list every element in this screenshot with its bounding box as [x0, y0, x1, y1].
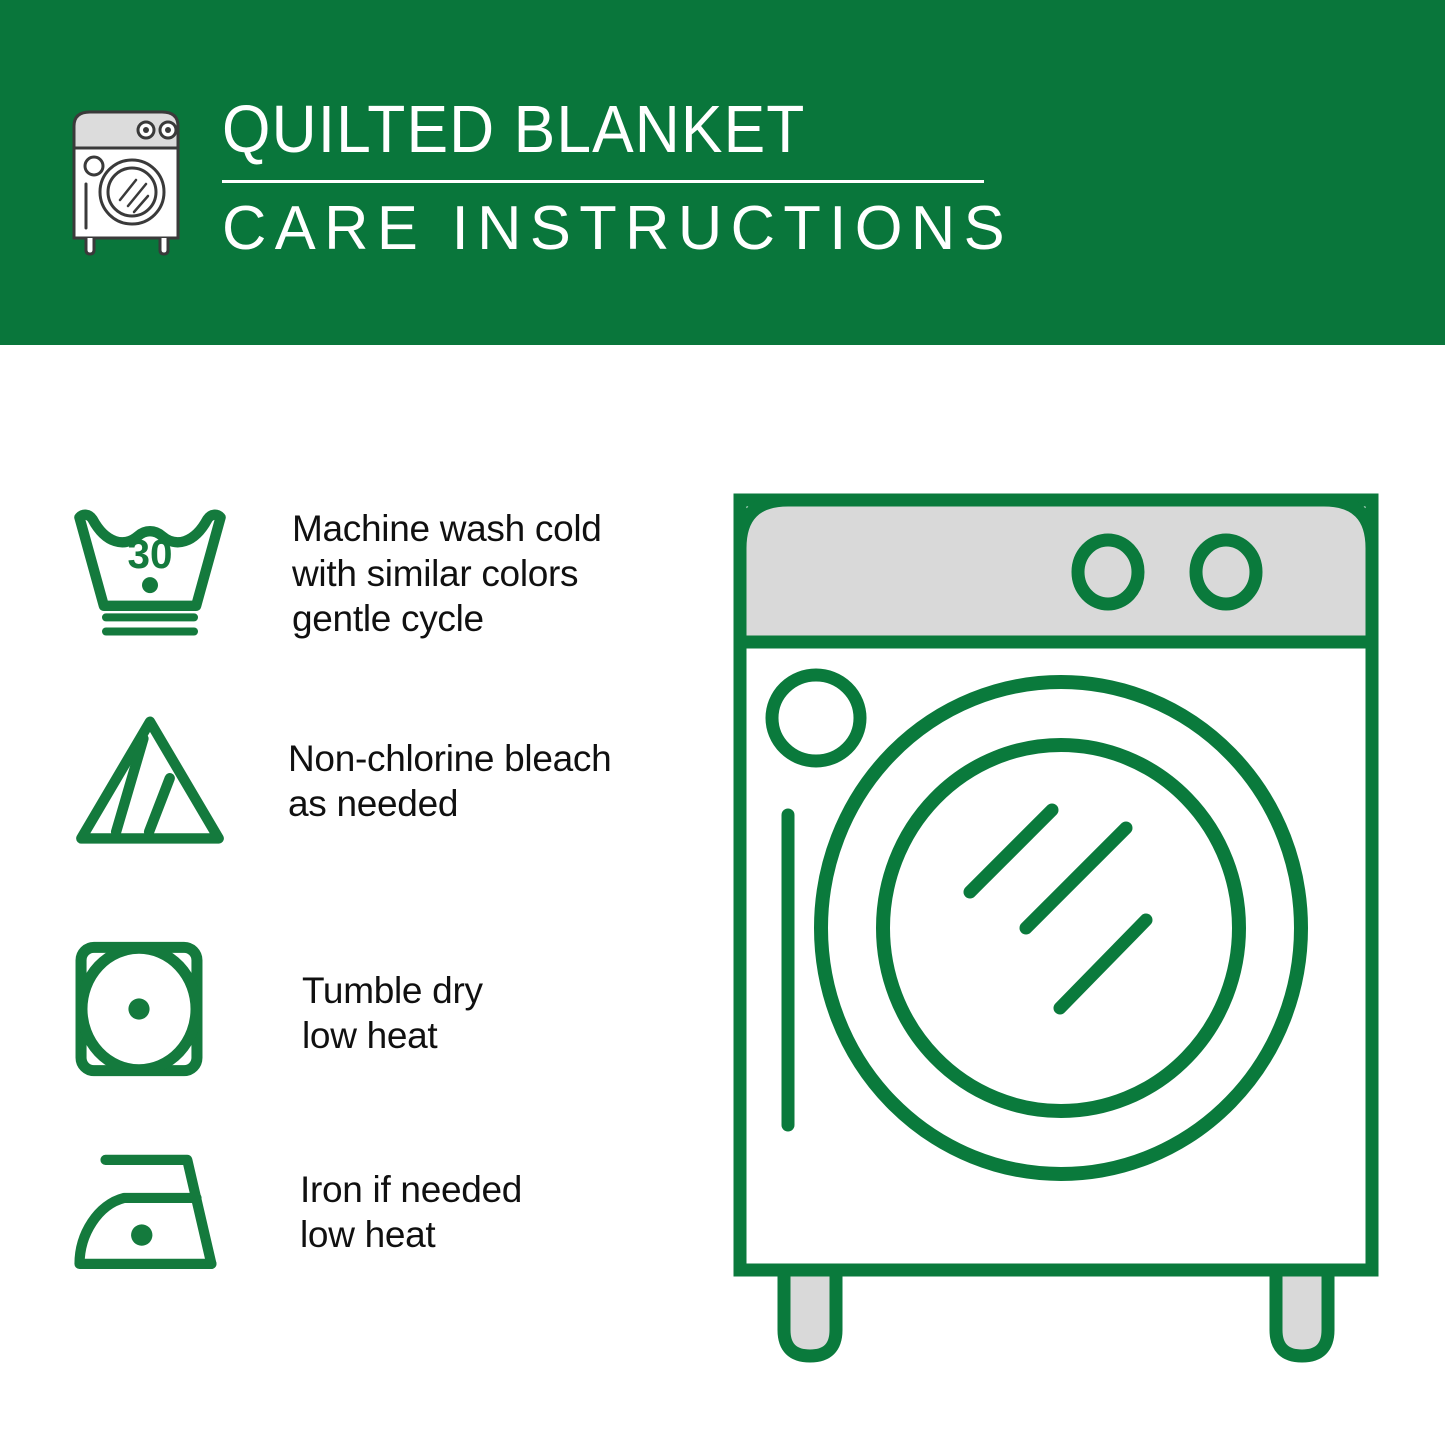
page-subtitle: CARE INSTRUCTIONS: [222, 197, 1013, 260]
care-row-tumble-dry: Tumble dry low heat: [70, 940, 483, 1083]
care-instructions-page: QUILTED BLANKET CARE INSTRUCTIONS 30: [0, 0, 1445, 1445]
tumble-dry-icon: [70, 940, 230, 1083]
care-label-iron: Iron if needed low heat: [300, 1145, 522, 1257]
detergent-dispenser-icon: [772, 675, 860, 761]
care-label-machine-wash: Machine wash cold with similar colors ge…: [292, 500, 602, 641]
iron-icon: [70, 1145, 230, 1280]
header-banner: QUILTED BLANKET CARE INSTRUCTIONS: [0, 0, 1445, 345]
care-row-iron: Iron if needed low heat: [70, 1145, 522, 1280]
care-row-machine-wash: 30 Machine wash cold with similar colors…: [70, 500, 602, 647]
care-row-bleach: Non-chlorine bleach as needed: [70, 710, 611, 857]
header-title-group: QUILTED BLANKET CARE INSTRUCTIONS: [222, 96, 1021, 261]
machine-leg-right: [1276, 1270, 1328, 1356]
header-content: QUILTED BLANKET CARE INSTRUCTIONS: [62, 96, 1021, 261]
control-knob-left: [1078, 540, 1138, 604]
title-divider: [222, 180, 984, 183]
wash-tub-30-icon: 30: [70, 500, 230, 647]
care-instruction-list: 30 Machine wash cold with similar colors…: [0, 345, 700, 1445]
bleach-triangle-icon: [70, 710, 230, 857]
door-inner-ring: [883, 745, 1239, 1111]
care-label-tumble-dry: Tumble dry low heat: [302, 940, 483, 1058]
control-knob-right: [1196, 540, 1256, 604]
care-label-bleach: Non-chlorine bleach as needed: [288, 710, 611, 826]
washing-machine-icon: [62, 104, 190, 256]
front-load-washing-machine-illustration: [716, 470, 1396, 1370]
page-title: QUILTED BLANKET: [222, 96, 965, 164]
machine-leg-left: [784, 1270, 836, 1356]
wash-temperature-label: 30: [127, 531, 172, 577]
